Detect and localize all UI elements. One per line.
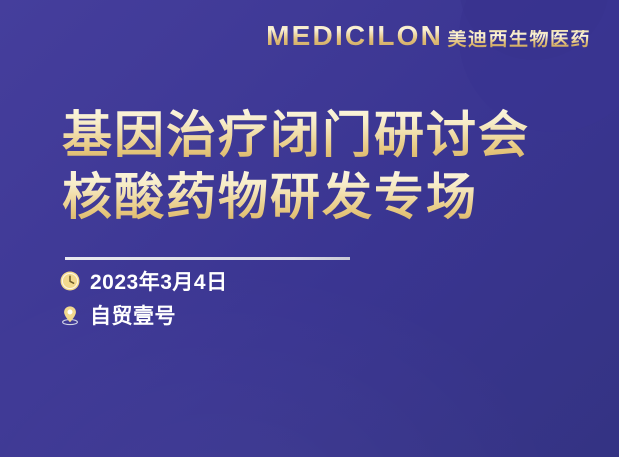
brand-subtitle: 美迪西生物医药 (447, 30, 591, 49)
headline-line-2: 核酸药物研发专场 (62, 166, 530, 228)
divider (65, 257, 350, 260)
event-date-row: 2023年3月4日 (59, 266, 228, 296)
decorative-background-wash (0, 227, 619, 457)
clock-icon (59, 270, 81, 292)
event-location-text: 自贸壹号 (90, 300, 176, 330)
event-location-row: 自贸壹号 (59, 300, 228, 330)
page-title: 基因治疗闭门研讨会 核酸药物研发专场 (62, 104, 530, 228)
event-date-text: 2023年3月4日 (90, 266, 228, 296)
headline-line-1: 基因治疗闭门研讨会 (62, 104, 530, 166)
brand-logo: MEDICILON 美迪西生物医药 (266, 22, 591, 50)
location-pin-icon (59, 304, 81, 326)
event-poster: MEDICILON 美迪西生物医药 基因治疗闭门研讨会 核酸药物研发专场 202… (0, 0, 619, 457)
brand-name: MEDICILON (266, 22, 443, 50)
event-details: 2023年3月4日 自贸壹号 (59, 266, 228, 334)
